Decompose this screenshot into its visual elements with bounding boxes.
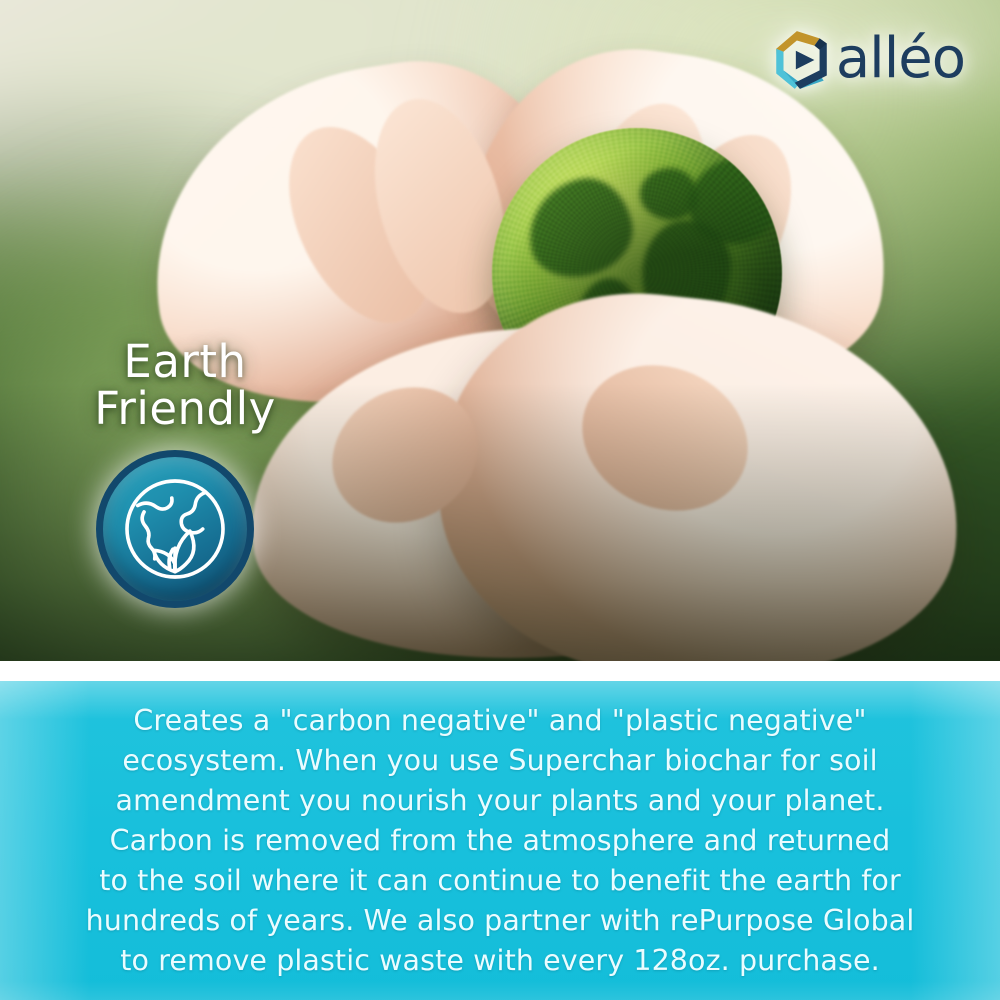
- badge-disc: [96, 450, 254, 608]
- earth-friendly-badge: [96, 450, 254, 608]
- hero-photo: Earth Friendly: [0, 0, 1000, 661]
- alleo-hexagon-play-logo-icon: [770, 26, 832, 92]
- brand-wordmark: alléo: [836, 31, 965, 87]
- callout-body-text: Creates a "carbon negative" and "plastic…: [60, 701, 940, 981]
- earth-friendly-block: Earth Friendly: [60, 338, 310, 432]
- callout-panel: Creates a "carbon negative" and "plastic…: [0, 681, 1000, 1000]
- brand-logo[interactable]: alléo: [770, 26, 965, 92]
- section-divider: [0, 661, 1000, 681]
- product-infographic-page: Earth Friendly: [0, 0, 1000, 1000]
- earth-friendly-title: Earth Friendly: [60, 338, 310, 432]
- globe-with-leaves-icon: [111, 465, 239, 593]
